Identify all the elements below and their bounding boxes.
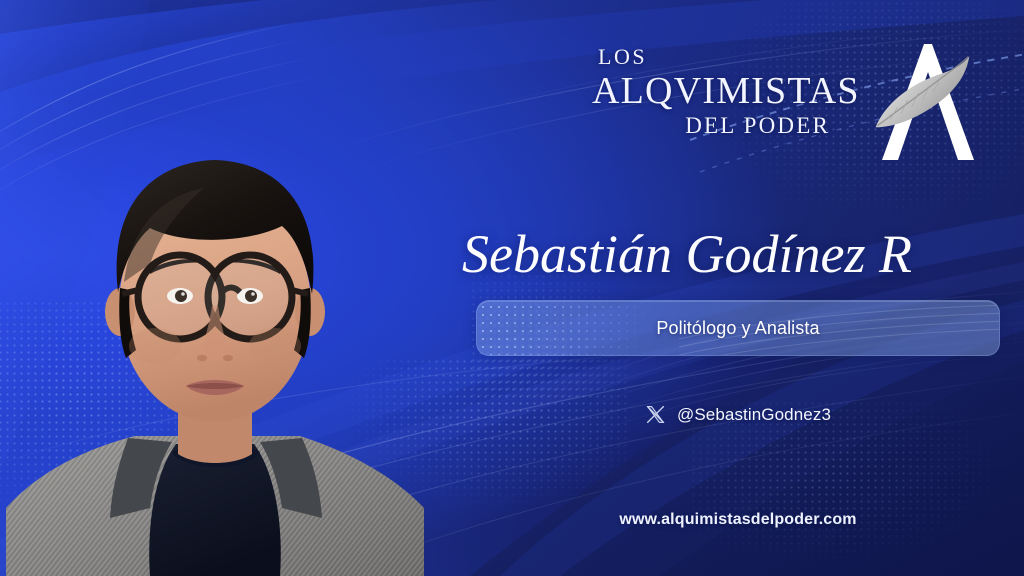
broadcast-lower-third-card: LOS ALQVIMISTAS DEL PODER bbox=[0, 0, 1024, 576]
website-url[interactable]: www.alquimistasdelpoder.com bbox=[476, 511, 1000, 529]
letter-a-quill-glyph bbox=[862, 32, 992, 172]
social-handle[interactable]: @SebastinGodnez3 bbox=[476, 404, 1000, 425]
brand-logo-line-3: DEL PODER bbox=[592, 114, 830, 137]
brand-logo-line-1: LOS bbox=[598, 46, 832, 68]
portrait-illustration bbox=[0, 56, 430, 576]
portrait-photo bbox=[0, 56, 430, 576]
x-twitter-icon[interactable] bbox=[645, 404, 666, 425]
role-banner-dot-pattern bbox=[476, 300, 661, 356]
role-label: Politólogo y Analista bbox=[656, 318, 819, 339]
role-banner: Politólogo y Analista bbox=[476, 300, 1000, 356]
brand-logo: LOS ALQVIMISTAS DEL PODER bbox=[592, 46, 992, 176]
social-handle-text[interactable]: @SebastinGodnez3 bbox=[677, 405, 831, 425]
brand-logo-line-2: ALQVIMISTAS bbox=[592, 71, 832, 112]
dot-pattern-bottom-right bbox=[690, 400, 1024, 576]
page-title: Sebastián Godínez R bbox=[462, 226, 1002, 283]
letter-a-quill-icon bbox=[862, 32, 992, 172]
brand-logo-wordmark: LOS ALQVIMISTAS DEL PODER bbox=[592, 46, 832, 137]
